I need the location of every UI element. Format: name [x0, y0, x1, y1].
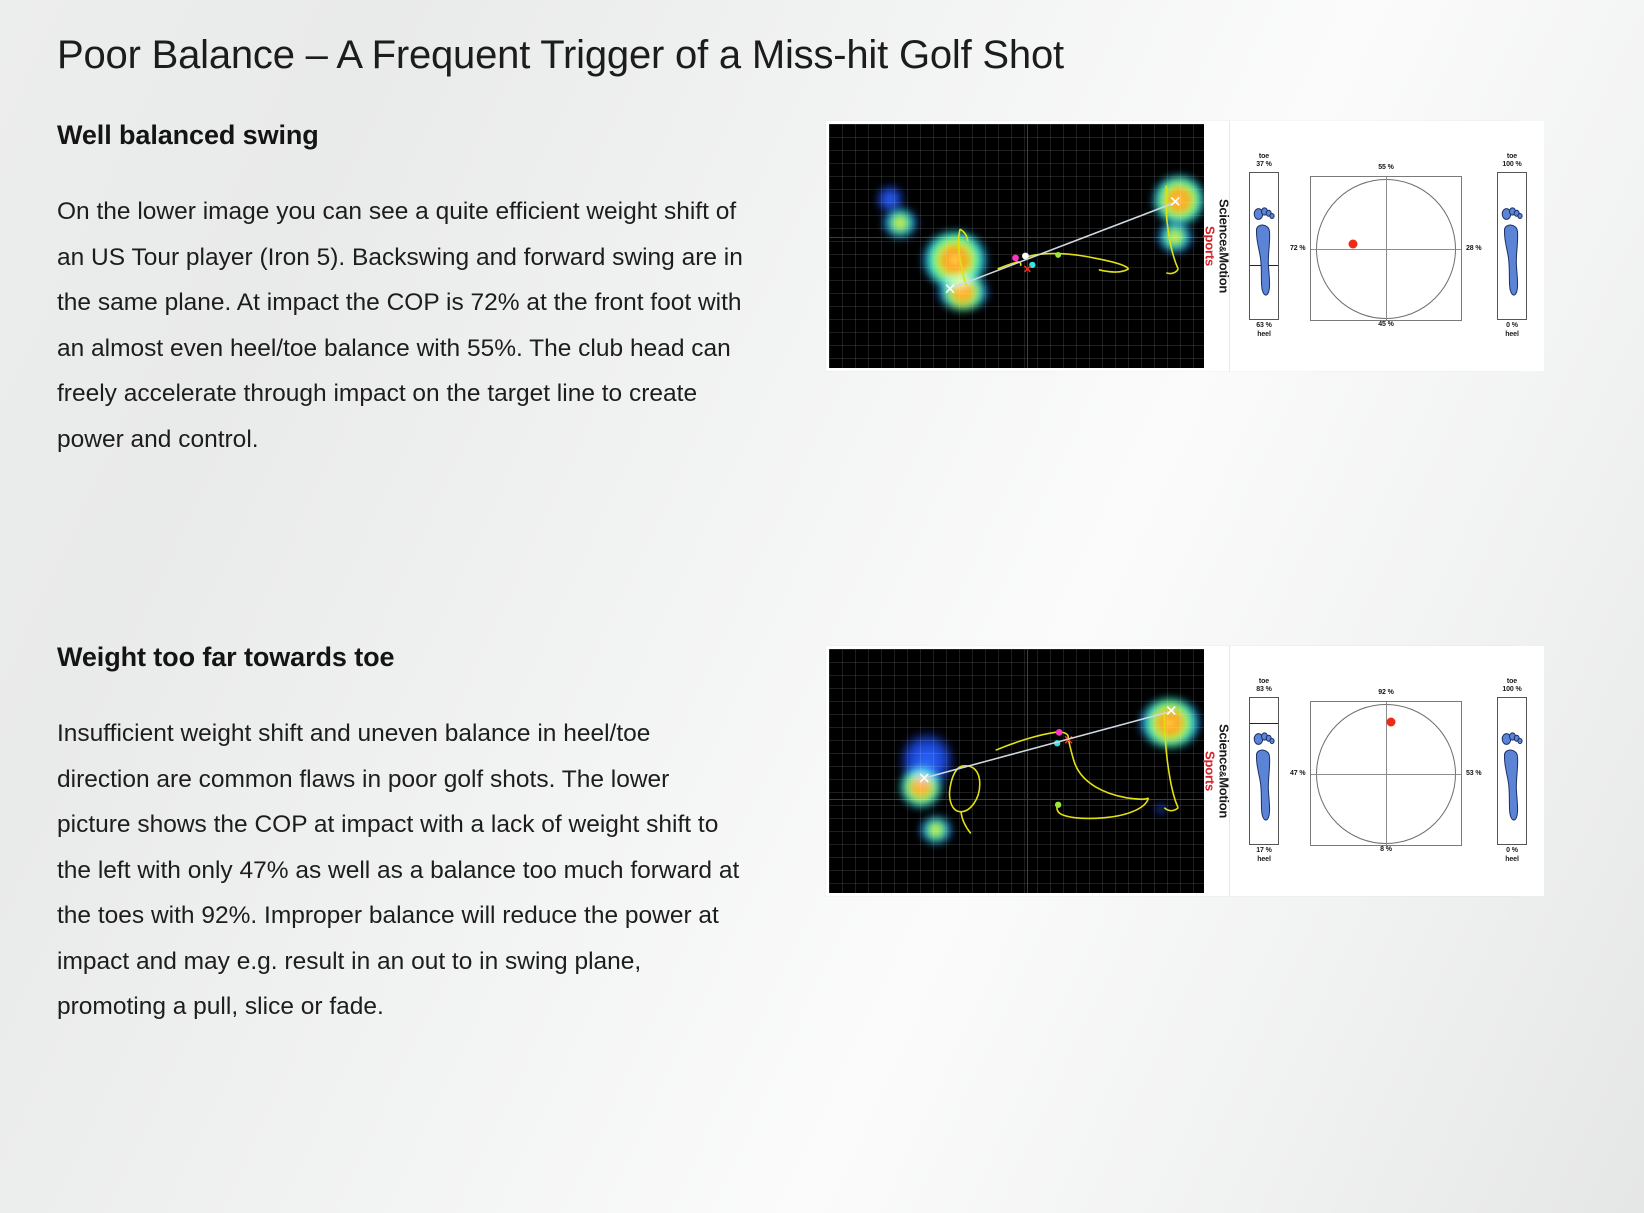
pressure-heatmap-wrapper [826, 121, 1204, 371]
section-text-column: Weight too far towards toe Insufficient … [57, 642, 757, 1030]
right-foot-heel-label: heel [1486, 856, 1538, 865]
right-foot-toe-label: toe [1486, 678, 1538, 687]
pressure-heatmap-wrapper [826, 646, 1204, 896]
right-foot-heel-value: 0 % [1486, 322, 1538, 331]
cop-target-circle: 55 % 45 % 72 % 28 % [1290, 161, 1486, 331]
balance-figure-well-balanced: Science&Motion Sports toe 37 % [826, 121, 1516, 371]
left-foot-box [1249, 172, 1279, 320]
cop-circle-bottom-label: 45 % [1378, 321, 1394, 328]
cop-circle-left-label: 72 % [1290, 245, 1306, 252]
logo-science-text: Science [1216, 199, 1231, 246]
logo-sports-text: Sports [1203, 724, 1217, 818]
sam-sports-logo: Science&Motion Sports [1204, 646, 1230, 896]
left-foot-heel-label: heel [1238, 856, 1290, 865]
cop-impact-dot [1386, 718, 1395, 727]
left-foot-toe-label: toe [1238, 153, 1290, 162]
cop-circle-top-label: 92 % [1378, 689, 1394, 696]
right-foot-balance-gauge: toe 100 % 0 % heel [1486, 678, 1538, 865]
section-heading: Well balanced swing [57, 120, 757, 151]
right-foot-box [1497, 697, 1527, 845]
cop-circle-top-label: 55 % [1378, 164, 1394, 171]
right-foot-toe-value: 100 % [1486, 686, 1538, 695]
cop-circle-left-label: 47 % [1290, 770, 1306, 777]
cop-circle-right-label: 53 % [1466, 770, 1482, 777]
cop-circle-right-label: 28 % [1466, 245, 1482, 252]
swing-plane-axis-line [829, 124, 1204, 366]
cop-circle-box [1310, 176, 1462, 321]
balance-readout-panel: toe 37 % 63 % heel 55 % 45 % 7 [1230, 121, 1544, 371]
cop-circle-axis-horizontal [1311, 774, 1461, 775]
section-body-text: On the lower image you can see a quite e… [57, 189, 747, 462]
logo-science-text: Science [1216, 724, 1231, 771]
page-title: Poor Balance – A Frequent Trigger of a M… [57, 33, 1064, 78]
logo-motion-text: Motion [1216, 252, 1231, 293]
logo-sports-text: Sports [1203, 199, 1217, 293]
right-footprint-icon [1500, 724, 1524, 828]
left-foot-heel-value: 17 % [1238, 847, 1290, 856]
pressure-heatmap [829, 649, 1204, 893]
right-footprint-icon [1500, 199, 1524, 303]
cop-circle-axis-horizontal [1311, 249, 1461, 250]
balance-figure-weight-toe: Science&Motion Sports toe 83 % [826, 646, 1516, 896]
left-foot-toe-label: toe [1238, 678, 1290, 687]
left-foot-toe-value: 83 % [1238, 686, 1290, 695]
swing-plane-axis-line [829, 649, 1204, 891]
left-foot-balance-gauge: toe 83 % 17 % heel [1238, 678, 1290, 865]
left-foot-balance-gauge: toe 37 % 63 % heel [1238, 153, 1290, 340]
left-foot-heel-label: heel [1238, 331, 1290, 340]
section-text-column: Well balanced swing On the lower image y… [57, 120, 757, 462]
logo-motion-text: Motion [1216, 777, 1231, 818]
sam-sports-logo: Science&Motion Sports [1204, 121, 1230, 371]
right-foot-toe-label: toe [1486, 153, 1538, 162]
section-body-text: Insufficient weight shift and uneven bal… [57, 711, 747, 1030]
left-foot-box [1249, 697, 1279, 845]
pressure-heatmap [829, 124, 1204, 368]
cop-target-circle: 92 % 8 % 47 % 53 % [1290, 686, 1486, 856]
right-foot-box [1497, 172, 1527, 320]
balance-readout-panel: toe 83 % 17 % heel 92 % 8 % 47 [1230, 646, 1544, 896]
right-foot-heel-label: heel [1486, 331, 1538, 340]
cop-circle-box [1310, 701, 1462, 846]
right-foot-heel-value: 0 % [1486, 847, 1538, 856]
cop-circle-bottom-label: 8 % [1380, 846, 1392, 853]
right-foot-toe-value: 100 % [1486, 161, 1538, 170]
right-foot-balance-gauge: toe 100 % 0 % heel [1486, 153, 1538, 340]
left-foot-toe-value: 37 % [1238, 161, 1290, 170]
cop-impact-dot [1349, 240, 1358, 249]
left-footprint-icon [1252, 199, 1276, 303]
section-heading: Weight too far towards toe [57, 642, 757, 673]
left-footprint-icon [1252, 724, 1276, 828]
left-foot-heel-value: 63 % [1238, 322, 1290, 331]
